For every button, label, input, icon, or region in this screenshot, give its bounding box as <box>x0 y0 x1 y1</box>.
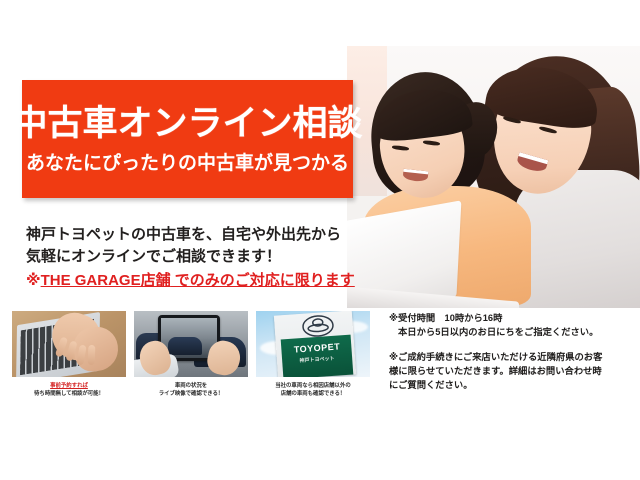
toyota-emblem-icon <box>301 314 334 338</box>
feature-caption-line-1: 車両の状況を <box>175 383 207 389</box>
banner-title: 中古車オンライン相談 <box>13 106 363 141</box>
note-contract-block: ※ご成約手続きにご来店いただける近隣府県のお客 様に限らせていただきます。詳細は… <box>389 350 629 392</box>
note-rest: でのみのご対応に限ります <box>171 272 355 289</box>
feature-caption-other-stores: 当社の車両なら相因店舗以外の 店舗の車両も確認できる！ <box>256 382 370 398</box>
advertisement-banner-page: 中古車オンライン相談 あなたにぴったりの中古車が見つかる 神戸トヨペットの中古車… <box>0 0 640 480</box>
garage-restriction-note: ※THE GARAGE店舗 でのみのご対応に限ります <box>26 270 346 292</box>
note-booking-window: 本日から5日以内のお日にちをご指定ください。 <box>389 325 629 339</box>
feature-caption-reservation: 事前予約すれば 待ち時間無して相談が可能！ <box>12 382 126 398</box>
banner-subtitle: あなたにぴったりの中古車が見つかる <box>26 154 349 173</box>
feature-caption-line-2: 待ち時間無して相談が可能！ <box>34 391 104 397</box>
description-block: 神戸トヨペットの中古車を、自宅や外出先から 気軽にオンラインでご相談できます！ … <box>26 224 346 292</box>
feature-caption-live-video: 車両の状況を ライブ映像で確認できる！ <box>134 382 248 398</box>
note-contract-line-3: にご質問ください。 <box>389 378 629 392</box>
feature-item-reservation: 事前予約すれば 待ち時間無して相談が可能！ <box>12 311 126 398</box>
note-hours: ※受付時間 10時から16時 <box>389 311 629 325</box>
toyopet-dealership-sign-photo: TOYOPET 神戸トヨペット <box>256 311 370 377</box>
main-banner: 中古車オンライン相談 あなたにぴったりの中古車が見つかる <box>22 80 353 198</box>
feature-item-live-video: 車両の状況を ライブ映像で確認できる！ <box>134 311 248 398</box>
feature-item-other-stores: TOYOPET 神戸トヨペット 当社の車両なら相因店舗以外の 店舗の車両も確認で… <box>256 311 370 398</box>
note-contract-line-2: 様に限らせていただきます。詳細はお問い合わせ時 <box>389 364 629 378</box>
feature-caption-line-2: ライブ映像で確認できる！ <box>159 391 224 397</box>
hands-typing-on-laptop-photo <box>12 311 126 377</box>
description-line-2: 気軽にオンラインでご相談できます！ <box>26 246 346 268</box>
tablet-showing-cars-photo <box>134 311 248 377</box>
description-line-1: 神戸トヨペットの中古車を、自宅や外出先から <box>26 224 346 246</box>
feature-caption-line-2: 店舗の車両も確認できる！ <box>281 391 346 397</box>
garage-store-name: THE GARAGE店舗 <box>41 272 171 289</box>
note-contract-line-1: ※ご成約手続きにご来店いただける近隣府県のお客 <box>389 350 629 364</box>
feature-caption-highlight: 事前予約すれば <box>50 383 88 389</box>
feature-list: 事前予約すれば 待ち時間無して相談が可能！ 車両の状況を ライブ映像で確認できる… <box>12 311 370 398</box>
hero-photo <box>347 46 640 308</box>
feature-caption-line-1: 当社の車両なら相因店舗以外の <box>275 383 350 389</box>
note-mark: ※ <box>26 272 41 289</box>
notes-block: ※受付時間 10時から16時 本日から5日以内のお日にちをご指定ください。 ※ご… <box>389 311 629 392</box>
